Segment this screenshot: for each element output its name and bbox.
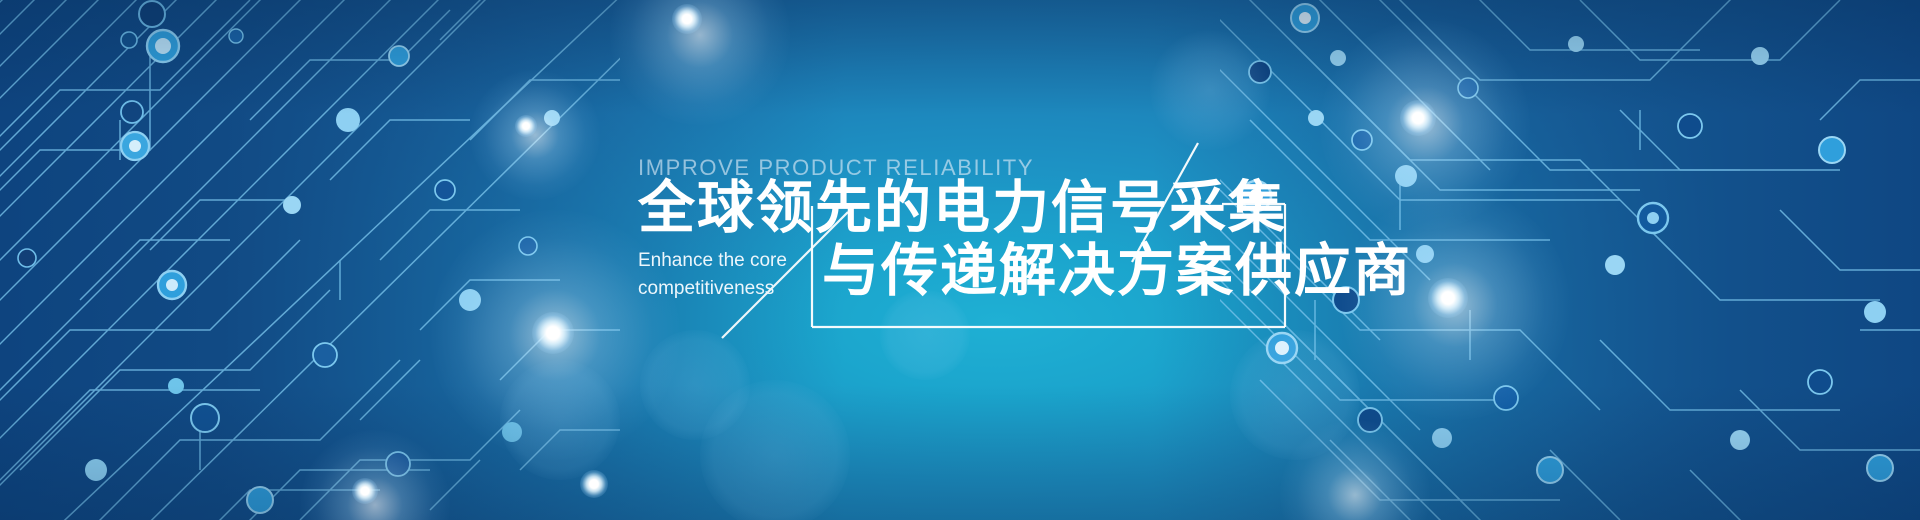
hero-banner: IMPROVE PRODUCT RELIABILITY 全球领先的电力信号采集 … — [0, 0, 1920, 520]
headline-copy-block: IMPROVE PRODUCT RELIABILITY 全球领先的电力信号采集 … — [0, 0, 1920, 520]
headline-line-1: 全球领先的电力信号采集 — [638, 180, 1287, 237]
headline-line-2: 与传递解决方案供应商 — [822, 243, 1412, 300]
subcopy-text: Enhance the core competitiveness — [638, 247, 798, 302]
